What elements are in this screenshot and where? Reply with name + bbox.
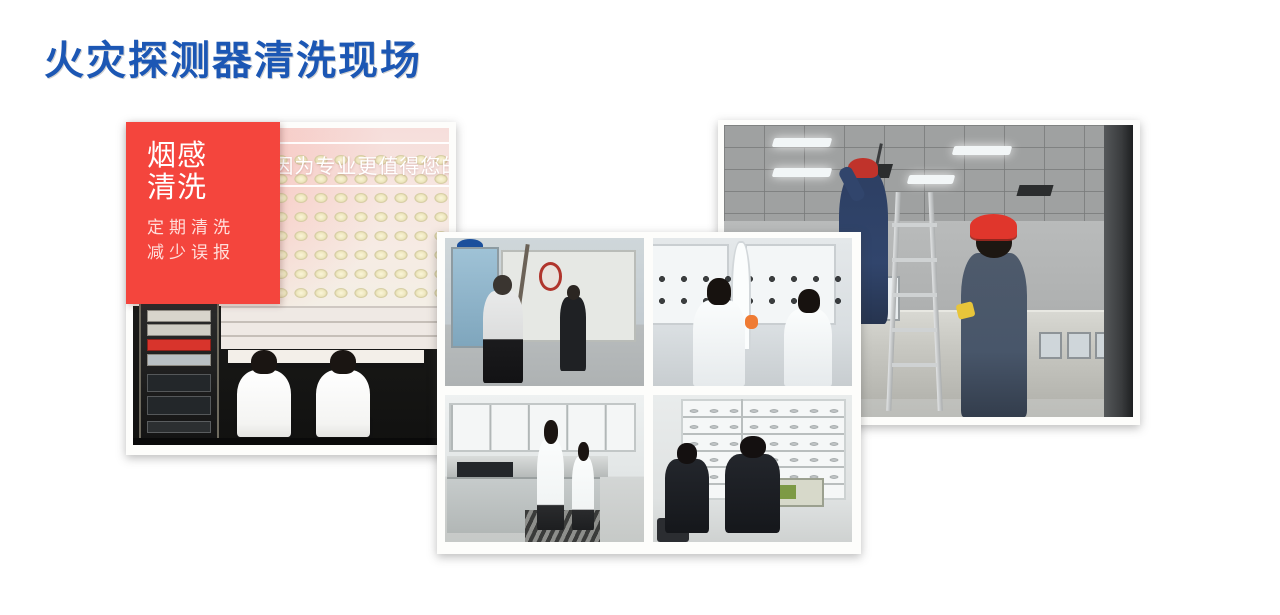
lab-technician-figure xyxy=(537,439,565,530)
center-photo-grid-frame[interactable] xyxy=(437,232,861,554)
stored-detectors xyxy=(686,421,841,433)
test-operator-figure xyxy=(665,459,709,533)
handheld-tool xyxy=(956,301,976,319)
ladder-step xyxy=(892,258,937,262)
photo-collage: 因为专业更值得您的信赖 xyxy=(0,0,1280,615)
technician-figure xyxy=(237,370,291,437)
technician-figure xyxy=(316,370,370,437)
ceiling-vent xyxy=(1017,185,1054,196)
console-screen xyxy=(1067,332,1091,359)
inspector-figure xyxy=(483,291,523,382)
ladder-step xyxy=(892,293,937,297)
detector-testing-photo[interactable] xyxy=(653,395,852,543)
badge-subtext: 定期清洗 减少误报 xyxy=(126,205,280,266)
badge-headline-line1: 烟感 xyxy=(147,140,280,172)
ceiling-light xyxy=(952,146,1013,155)
lab-technician-figure xyxy=(572,456,594,530)
ladder-step xyxy=(892,223,937,227)
rack-module xyxy=(147,310,211,322)
cleaning-bench-photo[interactable] xyxy=(653,238,852,386)
rack-module xyxy=(147,354,211,366)
red-hardhat xyxy=(970,214,1017,239)
badge-headline-line2: 清洗 xyxy=(147,172,280,204)
ladder-step xyxy=(892,328,937,332)
corridor-inspection-photo[interactable] xyxy=(445,238,644,386)
slogan-rule-bottom xyxy=(259,185,449,187)
wall-shelving xyxy=(221,306,442,350)
ultrasonic-wash-photo[interactable] xyxy=(445,395,644,543)
shelf-board xyxy=(683,433,844,435)
badge-headline: 烟感 清洗 xyxy=(126,122,280,205)
rack-module xyxy=(147,324,211,336)
ceiling-light xyxy=(772,168,833,177)
rack-module-red xyxy=(147,339,211,351)
workshop-room xyxy=(133,306,449,445)
staff-figure xyxy=(560,297,586,371)
step-ladder xyxy=(888,192,941,411)
floor xyxy=(133,438,449,445)
console-screen xyxy=(1039,332,1063,359)
equipment-rack xyxy=(139,300,219,442)
right-wall-column xyxy=(1104,125,1133,417)
worker-with-hardhat xyxy=(961,253,1026,417)
orange-nozzle xyxy=(745,315,759,330)
rack-module xyxy=(147,396,211,415)
badge-sub-line2: 减少误报 xyxy=(147,240,280,266)
badge-sub-line1: 定期清洗 xyxy=(147,215,280,241)
center-photo-grid xyxy=(445,238,852,542)
rack-module xyxy=(147,421,211,433)
ceiling-light xyxy=(772,138,833,147)
ceiling-light xyxy=(907,175,956,184)
rack-module xyxy=(147,374,211,393)
ladder-step xyxy=(892,363,937,367)
shelf-board xyxy=(683,416,844,418)
slogan-banner: 因为专业更值得您的信赖 xyxy=(259,142,449,187)
smoke-detector-cleaning-badge[interactable]: 烟感 清洗 定期清洗 减少误报 xyxy=(126,122,280,304)
detector-heads xyxy=(653,270,852,314)
lab-technician-figure xyxy=(784,309,832,386)
stored-detectors xyxy=(686,405,841,417)
test-operator-figure xyxy=(725,454,781,534)
slogan-text: 因为专业更值得您的信赖 xyxy=(259,144,449,181)
lab-technician-figure xyxy=(693,300,745,386)
